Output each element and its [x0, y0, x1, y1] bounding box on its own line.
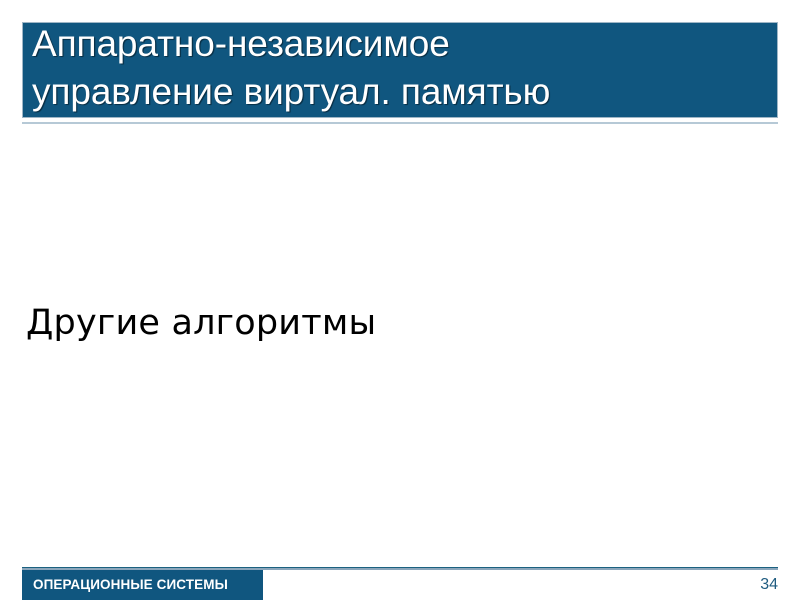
slide-title-banner: Аппаратно-независимое управление виртуал… — [22, 22, 778, 118]
slide-title: Аппаратно-независимое управление виртуал… — [32, 22, 774, 116]
body-heading: Другие алгоритмы — [26, 302, 376, 344]
footer-course-tag-label: ОПЕРАЦИОННЫЕ СИСТЕМЫ — [33, 577, 228, 592]
footer-course-tag: ОПЕРАЦИОННЫЕ СИСТЕМЫ — [22, 570, 263, 600]
page-number: 34 — [760, 576, 778, 594]
slide-title-line-1: Аппаратно-независимое — [32, 22, 774, 68]
title-underline-rule — [22, 121, 778, 124]
slide-body: Другие алгоритмы — [24, 150, 764, 550]
slide-title-line-2: управление виртуал. памятью — [32, 68, 774, 116]
presentation-slide: Аппаратно-независимое управление виртуал… — [0, 0, 800, 600]
